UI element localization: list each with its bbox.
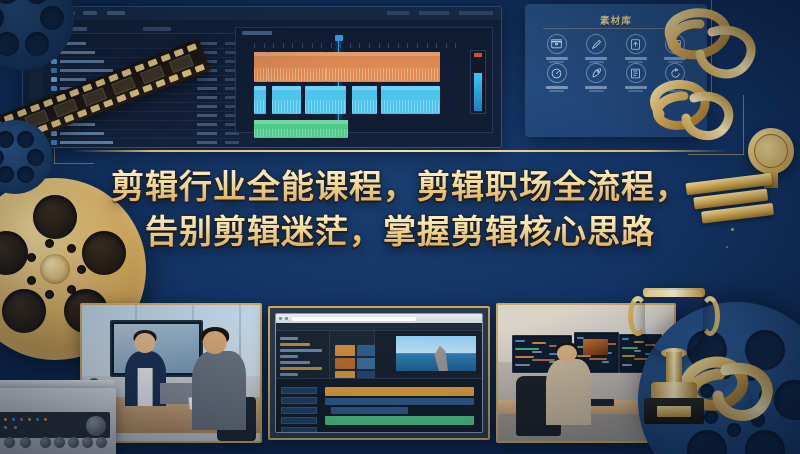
media-thumbnail (335, 345, 355, 356)
track-header (281, 387, 317, 394)
ruler-tick (312, 43, 313, 48)
film-perforation (69, 88, 80, 97)
film-perforation (195, 64, 206, 73)
reel-hole (17, 131, 34, 148)
reel-hole (27, 149, 44, 166)
reel-hole-inner (67, 244, 76, 253)
reel-hole-inner (77, 265, 86, 274)
film-perforation (43, 98, 54, 107)
reel-hole (40, 6, 64, 30)
ruler-tick (331, 43, 332, 48)
reel-hole (25, 0, 49, 4)
reel-hole (0, 131, 14, 148)
timeline-clip[interactable] (272, 86, 301, 114)
archive-box-icon (547, 34, 567, 54)
reel-hole (0, 6, 4, 30)
library-tile-sublabel (589, 90, 604, 92)
ruler-tick (446, 43, 447, 48)
vintage-audio-mixer (0, 372, 116, 454)
timeline-track-clip (325, 398, 473, 405)
film-perforation (95, 78, 106, 87)
ruler-tick (264, 43, 265, 48)
library-tile-label (585, 57, 607, 60)
page-title: 剪辑行业全能课程，剪辑职场全流程， 剪辑行业全能课程，剪辑职场全流程， 告别剪辑… (60, 164, 740, 254)
film-perforation (181, 69, 192, 78)
meter-peak-indicator (474, 53, 482, 57)
timeline-track-clip (325, 387, 473, 396)
reel-hole (0, 166, 14, 183)
timeline-label (242, 31, 272, 35)
monitor-ui-bar (589, 358, 607, 360)
library-tile-label (546, 86, 568, 89)
film-perforation (129, 89, 140, 98)
gold-medal (748, 128, 794, 174)
library-tile-1[interactable] (537, 34, 577, 63)
sparkle-dot (670, 86, 674, 90)
film-perforation (155, 79, 166, 88)
ruler-tick (427, 43, 428, 48)
ruler-tick (302, 43, 303, 48)
film-perforation (142, 84, 153, 93)
ruler-tick (273, 43, 274, 48)
monitor-ui-bar (515, 340, 525, 342)
monitor-ui-bar (532, 351, 542, 353)
media-list-item[interactable] (47, 48, 243, 57)
library-tile-5[interactable] (537, 63, 577, 92)
timeline-panel[interactable] (235, 27, 493, 133)
editor-tab-label-2 (143, 27, 171, 31)
timeline-clip[interactable] (254, 86, 266, 114)
track-header (281, 427, 317, 433)
gold-divider-line (72, 150, 728, 152)
timeline-clip[interactable] (326, 52, 441, 82)
track-header (281, 407, 317, 414)
project-tree-row (280, 367, 322, 370)
project-tree-row (280, 355, 298, 358)
monitor-ui-bar (532, 342, 547, 344)
audio-level-meter (470, 50, 486, 114)
ruler-tick (350, 43, 351, 48)
ruler-tick (398, 43, 399, 48)
media-thumbnail (357, 358, 377, 369)
project-tree-row (280, 349, 322, 352)
library-tile-6[interactable] (577, 63, 617, 92)
rocket-icon (586, 63, 606, 83)
library-tile-sublabel (628, 90, 643, 92)
monitor-ui-bar (602, 361, 610, 363)
ruler-tick (321, 43, 322, 48)
reel-hole (33, 195, 77, 239)
reel-hole-inner (27, 276, 36, 285)
library-tile-label (546, 57, 568, 60)
timeline-ruler[interactable] (254, 40, 458, 48)
reel-hole (17, 166, 34, 183)
monitor-ui-bar (532, 359, 555, 361)
reel-hole-inner (67, 285, 76, 294)
monitor-preview (583, 339, 608, 354)
reel-hole (0, 0, 19, 4)
photo-editing-software (268, 306, 490, 440)
timeline-clip[interactable] (352, 86, 377, 114)
video-editor-window[interactable] (22, 6, 502, 148)
pen-edit-icon (586, 34, 606, 54)
timeline-clip[interactable] (268, 52, 325, 82)
reel-hole (82, 231, 126, 275)
project-tree-row (280, 361, 310, 364)
poster-canvas: 素材库 (0, 0, 800, 454)
film-perforation (77, 109, 88, 118)
timeline-track-clip (331, 407, 408, 414)
project-tree-row (280, 373, 298, 376)
ruler-tick (283, 43, 284, 48)
editor-titlebar (23, 7, 501, 20)
reel-hole-inner (27, 253, 36, 262)
headline-band: 剪辑行业全能课程，剪辑职场全流程， 剪辑行业全能课程，剪辑职场全流程， 告别剪辑… (60, 150, 740, 280)
meter-fill (474, 73, 482, 111)
library-tile-2[interactable] (577, 34, 617, 63)
ruler-tick (379, 43, 380, 48)
reel-hole (25, 32, 49, 56)
sparkle-dot (690, 100, 692, 102)
ruler-tick (369, 43, 370, 48)
ruler-tick (359, 43, 360, 48)
library-tile-label (585, 86, 607, 89)
media-thumbnail (357, 345, 377, 356)
ruler-tick (254, 43, 255, 48)
timeline-clip[interactable] (254, 52, 268, 82)
headline-line1: 剪辑行业全能课程，剪辑职场全流程， (111, 164, 689, 209)
track-header (281, 417, 317, 424)
monitor-ui-bar (515, 364, 530, 366)
reel-hole (0, 231, 28, 275)
film-perforation (51, 119, 62, 128)
track-header (281, 397, 317, 404)
ruler-tick (407, 43, 408, 48)
reel-hole (0, 32, 19, 56)
film-perforation (90, 104, 101, 113)
ruler-tick (292, 43, 293, 48)
reel-hole (2, 289, 46, 333)
project-tree-row (280, 343, 310, 346)
monitor-ui-bar (515, 356, 534, 358)
headline-line2: 告别剪辑迷茫，掌握剪辑核心思路 (145, 209, 655, 254)
film-perforation (64, 114, 75, 123)
ruler-tick (388, 43, 389, 48)
media-list-item[interactable] (47, 129, 243, 138)
timeline-track-clip (325, 416, 473, 425)
film-perforation (103, 99, 114, 108)
timeline-clip[interactable] (305, 86, 346, 114)
media-list-item[interactable] (47, 39, 243, 48)
monitor-ui-bar (577, 355, 591, 357)
ruler-tick (455, 43, 456, 48)
media-list-item[interactable] (47, 138, 243, 147)
timeline-clip[interactable] (381, 86, 440, 114)
timeline-clip[interactable] (254, 120, 348, 138)
project-tree-row (280, 337, 298, 340)
ruler-tick (436, 43, 437, 48)
film-perforation (168, 74, 179, 83)
reel-hole (0, 149, 4, 166)
reel-hole-inner (45, 290, 54, 299)
reel-hole-inner (45, 239, 54, 248)
gold-trophy (626, 282, 722, 450)
ruler-tick (340, 43, 341, 48)
film-perforation (187, 43, 198, 52)
film-perforation (116, 94, 127, 103)
ruler-tick (417, 43, 418, 48)
monitor-ui-bar (515, 348, 538, 350)
media-thumbnail (335, 358, 355, 369)
library-tile-sublabel (549, 90, 564, 92)
speedometer-icon (547, 63, 567, 83)
